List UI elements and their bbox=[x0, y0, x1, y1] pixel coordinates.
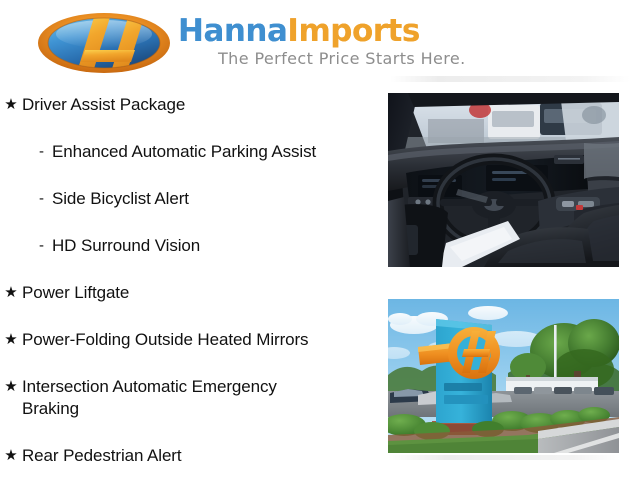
list-item: ★ Power-Folding Outside Heated Mirrors bbox=[0, 329, 380, 351]
brand-wordmark: HannaImports bbox=[178, 14, 518, 50]
list-item: - HD Surround Vision bbox=[0, 235, 380, 257]
dash-bullet-icon: - bbox=[0, 235, 48, 257]
star-bullet-icon: ★ bbox=[0, 94, 22, 116]
list-item: - Side Bicyclist Alert bbox=[0, 188, 380, 210]
bottom-divider bbox=[388, 455, 620, 460]
list-item: ★ Driver Assist Package bbox=[0, 94, 380, 116]
feature-label: Power-Folding Outside Heated Mirrors bbox=[22, 329, 308, 351]
brand-name-hanna: Hanna bbox=[178, 13, 287, 49]
star-bullet-icon: ★ bbox=[0, 282, 22, 304]
star-bullet-icon: ★ bbox=[0, 329, 22, 351]
star-bullet-icon: ★ bbox=[0, 376, 22, 398]
vehicle-feature-list: ★ Driver Assist Package - Enhanced Autom… bbox=[0, 88, 380, 480]
hanna-imports-logo-icon bbox=[33, 12, 175, 74]
list-item: ★ Intersection Automatic Emergency Braki… bbox=[0, 376, 330, 420]
feature-label: Intersection Automatic Emergency Braking bbox=[22, 376, 330, 420]
dash-bullet-icon: - bbox=[0, 188, 48, 210]
feature-label: Power Liftgate bbox=[22, 282, 129, 304]
vehicle-interior-photo[interactable] bbox=[388, 93, 619, 267]
feature-label: Side Bicyclist Alert bbox=[48, 188, 189, 210]
page-header: HannaImports The Perfect Price Starts He… bbox=[0, 0, 640, 88]
feature-label: Rear Pedestrian Alert bbox=[22, 445, 181, 467]
list-item: - Enhanced Automatic Parking Assist bbox=[0, 141, 380, 163]
list-item: ★ Power Liftgate bbox=[0, 282, 380, 304]
feature-label: Enhanced Automatic Parking Assist bbox=[48, 141, 316, 163]
dash-bullet-icon: - bbox=[0, 141, 48, 163]
feature-label: HD Surround Vision bbox=[48, 235, 200, 257]
list-item: ★ Rear Pedestrian Alert bbox=[0, 445, 380, 467]
brand-tagline: The Perfect Price Starts Here. bbox=[218, 49, 466, 68]
dealership-sign-photo[interactable] bbox=[388, 299, 619, 453]
brand-name-imports: Imports bbox=[287, 13, 419, 49]
star-bullet-icon: ★ bbox=[0, 445, 22, 467]
feature-label: Driver Assist Package bbox=[22, 94, 185, 116]
header-divider bbox=[390, 76, 630, 82]
